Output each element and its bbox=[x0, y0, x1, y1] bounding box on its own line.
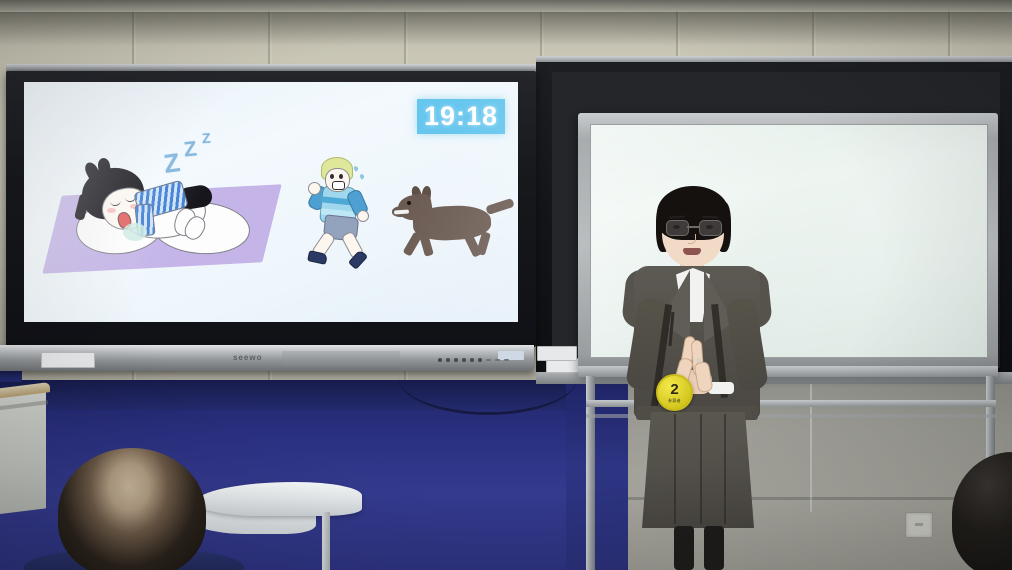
sweat-drop-icon bbox=[353, 165, 359, 171]
boy-hand bbox=[357, 210, 369, 222]
boy-eye bbox=[339, 174, 343, 179]
skirt-pleat bbox=[700, 414, 702, 524]
presenter-leg bbox=[704, 526, 724, 570]
front-left-attendee-head bbox=[58, 448, 206, 570]
sweat-drop-icon bbox=[359, 173, 365, 179]
skirt-pleat bbox=[724, 414, 726, 524]
control-slider-mark[interactable] bbox=[486, 359, 491, 361]
control-slider-mark[interactable] bbox=[495, 359, 500, 361]
presenter-mouth bbox=[683, 248, 701, 255]
timer-value: 19:18 bbox=[424, 101, 498, 132]
presenter-bangs bbox=[662, 194, 724, 216]
presenter: 2 参赛者 bbox=[612, 186, 782, 570]
wall-shadow-band bbox=[0, 12, 1012, 46]
dog-eye bbox=[407, 201, 411, 205]
display-screen[interactable]: 19:18 Z Z Z bbox=[24, 82, 518, 322]
smart-display[interactable]: 19:18 Z Z Z bbox=[6, 64, 536, 347]
blanket-patch bbox=[123, 223, 147, 241]
control-dot[interactable] bbox=[454, 358, 458, 362]
sleep-z-icon: Z bbox=[162, 147, 182, 180]
sleep-z-icon: Z bbox=[183, 137, 198, 162]
presenter-leg bbox=[674, 526, 694, 570]
control-dot[interactable] bbox=[478, 358, 482, 362]
boy-eye bbox=[330, 174, 334, 179]
boy-mouth bbox=[332, 181, 345, 190]
control-dot[interactable] bbox=[438, 358, 442, 362]
wall-outlet bbox=[905, 512, 933, 538]
dog-tail bbox=[485, 198, 514, 215]
control-dot[interactable] bbox=[446, 358, 450, 362]
table-leg bbox=[322, 512, 330, 570]
display-control-buttons[interactable] bbox=[438, 358, 509, 362]
display-ir-window bbox=[282, 351, 400, 365]
jacket-button bbox=[696, 358, 701, 363]
control-dot[interactable] bbox=[470, 358, 474, 362]
display-sticker-label bbox=[41, 352, 95, 368]
child-cheek bbox=[107, 208, 116, 213]
presenter-skirt bbox=[642, 412, 754, 528]
display-side-label bbox=[537, 346, 577, 361]
display-brand-logo: seewo bbox=[233, 353, 262, 362]
sleep-z-icon: Z bbox=[201, 130, 211, 147]
control-slider-mark[interactable] bbox=[504, 359, 509, 361]
badge-subtitle: 参赛者 bbox=[668, 398, 681, 404]
presenter-eye bbox=[673, 225, 680, 229]
presenter-eye bbox=[706, 225, 713, 229]
contestant-badge: 2 参赛者 bbox=[656, 374, 693, 411]
glasses-bridge bbox=[687, 226, 699, 228]
boy-fist bbox=[308, 182, 321, 195]
screenshot-root: 19:18 Z Z Z bbox=[0, 0, 1012, 570]
child-hair-tuft bbox=[97, 157, 111, 175]
skirt-pleat bbox=[674, 414, 676, 524]
countdown-timer: 19:18 bbox=[417, 99, 505, 134]
badge-number: 2 bbox=[670, 382, 678, 397]
control-dot[interactable] bbox=[462, 358, 466, 362]
